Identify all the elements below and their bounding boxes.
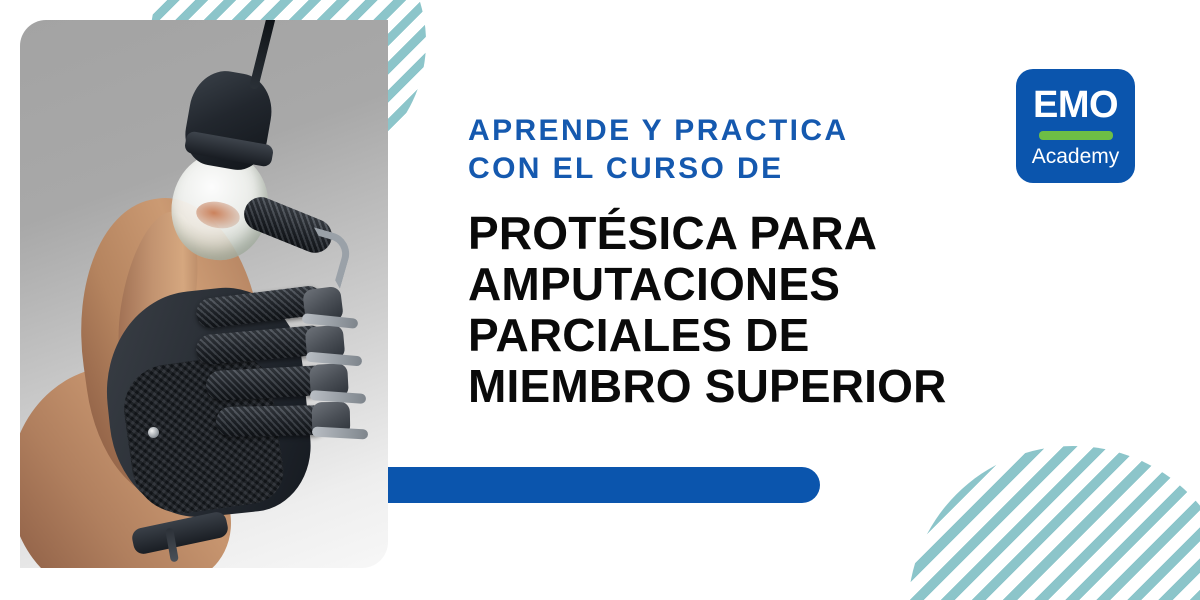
eyebrow-line-1: APRENDE Y PRACTICA — [468, 112, 1028, 150]
emo-academy-logo[interactable]: EMO Academy — [1016, 69, 1135, 183]
logo-brand-text: EMO — [1033, 85, 1118, 125]
striped-circle-bottom-decoration — [908, 446, 1200, 600]
headline-line-4: MIEMBRO SUPERIOR — [468, 361, 1028, 412]
eyebrow-line-2: CON EL CURSO DE — [468, 150, 1028, 188]
page-title: PROTÉSICA PARA AMPUTACIONES PARCIALES DE… — [468, 208, 1028, 412]
headline-line-1: PROTÉSICA PARA — [468, 208, 1028, 259]
headline-line-2: AMPUTACIONES — [468, 259, 1028, 310]
socket-cable-shape — [249, 20, 276, 90]
promo-banner: APRENDE Y PRACTICA CON EL CURSO DE PROTÉ… — [0, 0, 1200, 600]
hero-photo — [20, 20, 388, 568]
finger-linkage-shape — [312, 427, 368, 440]
plate-screw-shape — [148, 427, 159, 438]
banner-text-block: APRENDE Y PRACTICA CON EL CURSO DE PROTÉ… — [468, 112, 1028, 412]
logo-green-rule — [1039, 131, 1113, 140]
logo-sub-brand-text: Academy — [1032, 145, 1120, 168]
headline-line-3: PARCIALES DE — [468, 310, 1028, 361]
